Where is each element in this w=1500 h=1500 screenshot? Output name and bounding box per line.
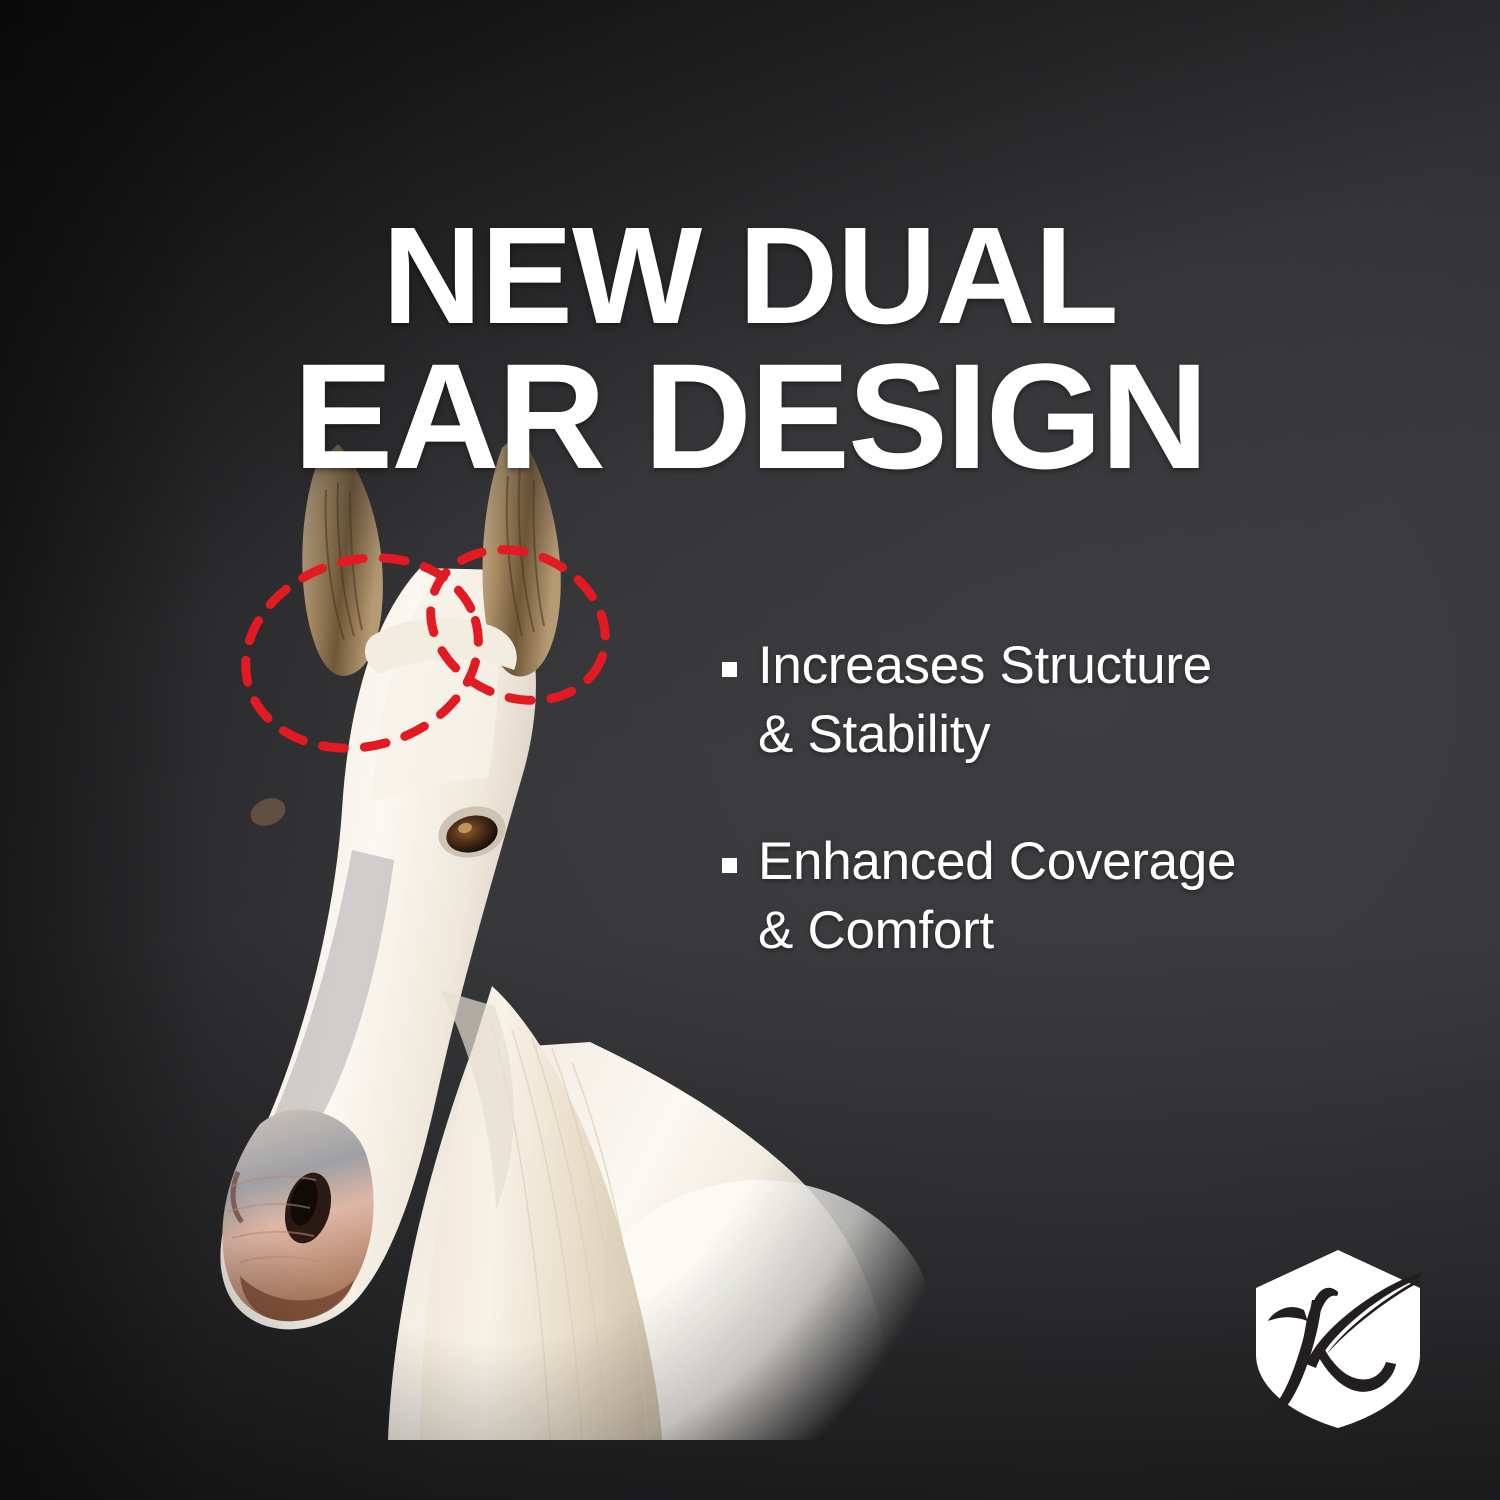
feature-item-1-line-2: & Stability: [758, 705, 990, 764]
brand-logo: [1252, 1248, 1424, 1430]
feature-item-2: Enhanced Coverage & Comfort: [722, 828, 1422, 966]
square-bullet-icon: [722, 858, 737, 873]
feature-item-1-text: Increases Structure & Stability: [758, 632, 1212, 770]
feature-item-1-line-1: Increases Structure: [758, 636, 1212, 695]
headline-line-2: EAR DESIGN: [40, 344, 1460, 490]
square-bullet-icon: [722, 662, 737, 677]
feature-item-2-text: Enhanced Coverage & Comfort: [758, 828, 1236, 966]
feature-item-2-line-2: & Comfort: [758, 901, 994, 960]
headline-line-1: NEW DUAL: [40, 210, 1460, 344]
feature-item-2-line-1: Enhanced Coverage: [758, 832, 1236, 891]
feature-list: Increases Structure & Stability Enhanced…: [722, 632, 1422, 1024]
ad-creative-canvas: NEW DUAL EAR DESIGN Increases Structure …: [0, 0, 1500, 1500]
feature-item-1: Increases Structure & Stability: [722, 632, 1422, 770]
headline: NEW DUAL EAR DESIGN: [0, 210, 1500, 489]
